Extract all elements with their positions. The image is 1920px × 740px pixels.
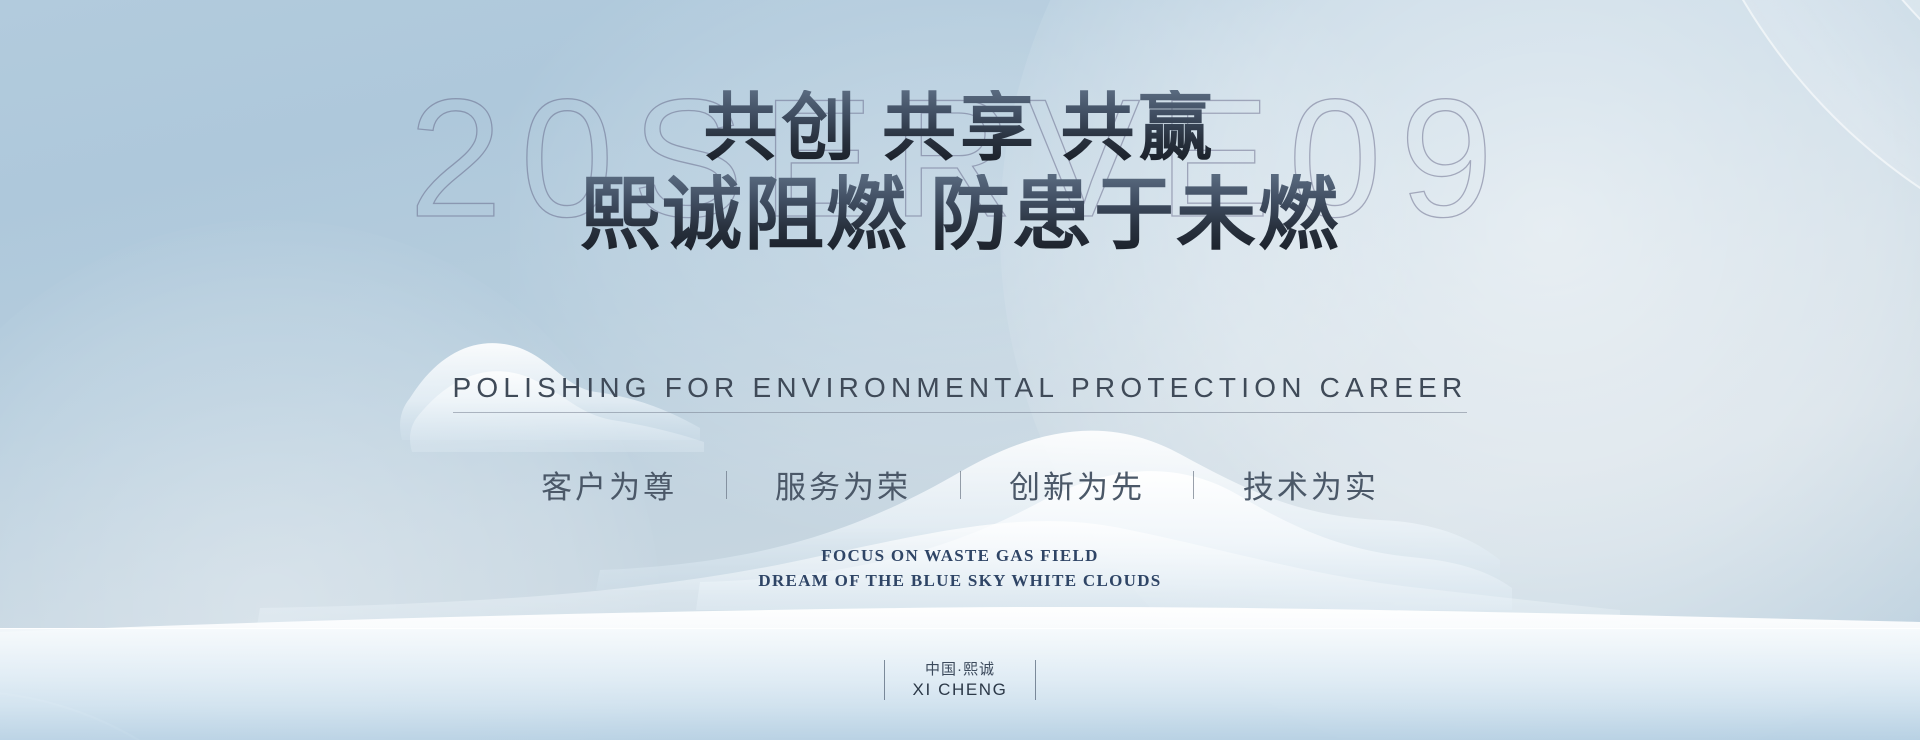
logo-divider-right [1035,660,1036,700]
logo-divider-left [884,660,885,700]
serif-tagline-block: FOCUS ON WASTE GAS FIELD DREAM OF THE BL… [0,544,1920,593]
cloud-right-large [256,431,1620,632]
value-separator-2 [960,471,961,499]
headline-line-secondary: 熙诚阻燃 防患于未燃 [0,174,1920,259]
logo-name-en: XI CHENG [913,679,1008,701]
horizon-line [0,628,1920,629]
values-row: 客户为尊 服务为荣 创新为先 技术为实 [0,462,1920,507]
subtitle-english-wrapper: POLISHING FOR ENVIRONMENTAL PROTECTION C… [0,372,1920,413]
logo-names: 中国·熙诚 XI CHENG [913,660,1008,701]
subtitle-english: POLISHING FOR ENVIRONMENTAL PROTECTION C… [453,372,1468,413]
serif-tagline-line-1: FOCUS ON WASTE GAS FIELD [0,544,1920,569]
logo-name-cn: 中国·熙诚 [913,660,1008,679]
value-item-3: 创新为先 [1009,462,1145,507]
headline-line-primary: 共创 共享 共赢 [0,90,1920,168]
serif-tagline-line-2: DREAM OF THE BLUE SKY WHITE CLOUDS [0,569,1920,594]
headline-block: 共创 共享 共赢 熙诚阻燃 防患于未燃 [0,90,1920,259]
footer-logo: 中国·熙诚 XI CHENG [0,660,1920,701]
value-item-2: 服务为荣 [775,462,911,507]
value-separator-3 [1193,471,1194,499]
value-item-1: 客户为尊 [541,462,677,507]
value-item-4: 技术为实 [1243,462,1379,507]
value-separator-1 [726,471,727,499]
promotional-banner: 20SERVE09 [0,0,1920,740]
